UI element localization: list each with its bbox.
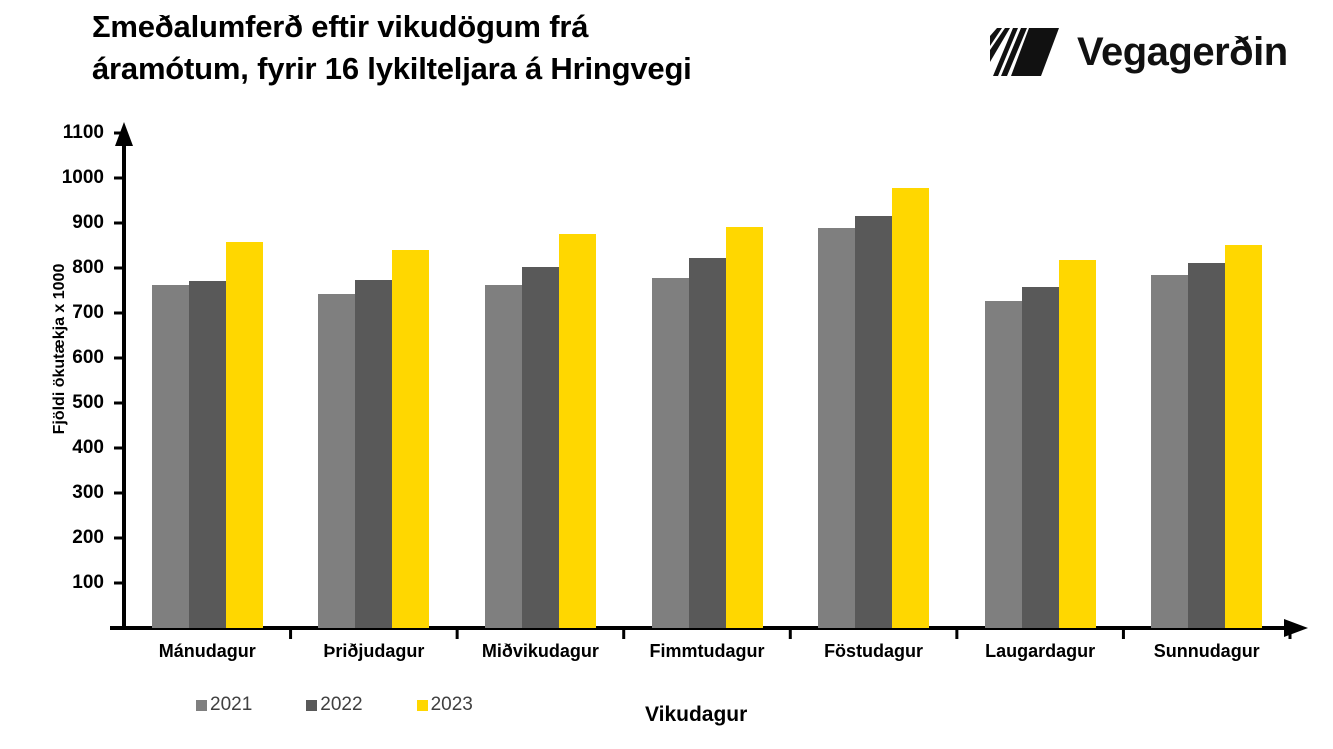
bar-2022-Sunnudagur <box>1188 263 1225 628</box>
x-category-label: Mánudagur <box>124 641 291 662</box>
x-category-label: Sunnudagur <box>1123 641 1290 662</box>
bar-2022-Laugardagur <box>1022 287 1059 628</box>
bar-2021-Miðvikudagur <box>485 285 522 628</box>
bar-2023-Fimmtudagur <box>726 227 763 628</box>
bar-2023-Mánudagur <box>226 242 263 628</box>
chart-bars <box>0 0 1333 749</box>
bar-2022-Fimmtudagur <box>689 258 726 628</box>
legend-swatch-icon <box>417 700 428 711</box>
legend-label: 2021 <box>210 694 252 716</box>
legend-item-2021[interactable]: 2021 <box>196 694 252 716</box>
bar-2023-Föstudagur <box>892 188 929 628</box>
legend-item-2023[interactable]: 2023 <box>417 694 473 716</box>
bar-2021-Mánudagur <box>152 285 189 628</box>
legend-swatch-icon <box>306 700 317 711</box>
chart-plot-area: Fjöldi ökutækja x 1000 10020030040050060… <box>0 0 1333 749</box>
legend-label: 2023 <box>431 694 473 716</box>
x-category-label: Föstudagur <box>790 641 957 662</box>
x-category-label: Þriðjudagur <box>291 641 458 662</box>
x-category-label: Laugardagur <box>957 641 1124 662</box>
x-category-label: Miðvikudagur <box>457 641 624 662</box>
x-axis-label: Vikudagur <box>645 703 747 727</box>
bar-2022-Föstudagur <box>855 216 892 628</box>
bar-2021-Þriðjudagur <box>318 294 355 628</box>
x-category-label: Fimmtudagur <box>624 641 791 662</box>
bar-2023-Laugardagur <box>1059 260 1096 628</box>
bar-2021-Föstudagur <box>818 228 855 628</box>
bar-2023-Sunnudagur <box>1225 245 1262 628</box>
bar-2023-Miðvikudagur <box>559 234 596 628</box>
legend-swatch-icon <box>196 700 207 711</box>
bar-2023-Þriðjudagur <box>392 250 429 628</box>
bar-2022-Þriðjudagur <box>355 280 392 628</box>
bar-2021-Laugardagur <box>985 301 1022 628</box>
bar-2022-Miðvikudagur <box>522 267 559 628</box>
bar-2021-Sunnudagur <box>1151 275 1188 628</box>
bar-2021-Fimmtudagur <box>652 278 689 628</box>
legend-label: 2022 <box>320 694 362 716</box>
legend-item-2022[interactable]: 2022 <box>306 694 362 716</box>
chart-legend: 202120222023 <box>196 694 527 716</box>
bar-2022-Mánudagur <box>189 281 226 628</box>
